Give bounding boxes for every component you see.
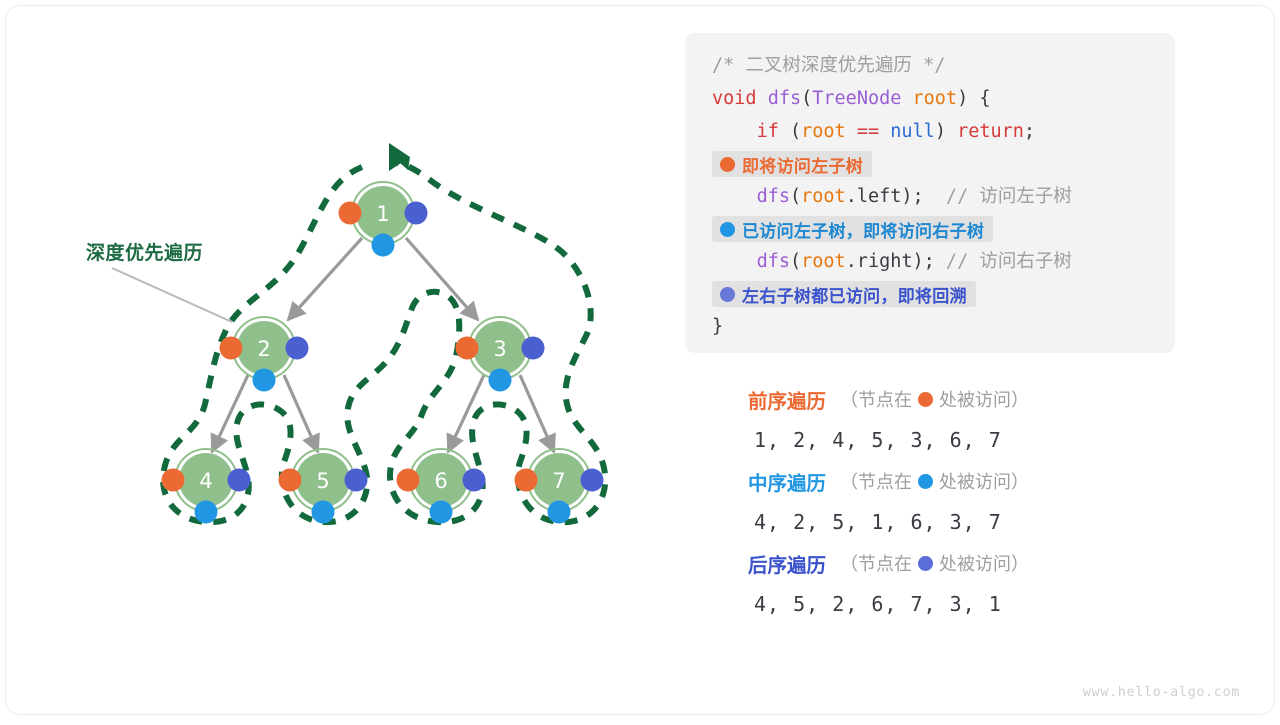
- code-token: dfs: [757, 186, 790, 207]
- code-token: ==: [857, 121, 879, 142]
- node-value: 6: [434, 469, 447, 493]
- edge-2-5: [284, 375, 318, 452]
- preorder-marker-dot: [339, 202, 362, 225]
- code-highlight-line: 已访问左子树，即将访问右子树: [685, 214, 1175, 244]
- marker-dot-icon: [720, 157, 735, 172]
- code-token: [879, 121, 890, 142]
- inorder-marker-dot: [372, 234, 395, 257]
- traversal-note-prefix: （节点在: [840, 468, 912, 494]
- code-token: [846, 121, 857, 142]
- code-token: dfs: [757, 251, 790, 272]
- code-lines: /* 二叉树深度优先遍历 */void dfs(TreeNode root) {…: [685, 49, 1175, 343]
- node-value: 3: [493, 337, 506, 361]
- traversal-note-suffix: 处被访问）: [939, 550, 1029, 576]
- code-token: root: [801, 251, 846, 272]
- highlight-chip: 即将访问左子树: [712, 151, 872, 177]
- traversal-name: 前序遍历: [748, 385, 826, 414]
- code-token: (: [790, 186, 801, 207]
- code-line: /* 二叉树深度优先遍历 */: [685, 49, 1175, 82]
- traversal-header: 前序遍历（节点在处被访问）: [748, 382, 1168, 416]
- code-token: dfs: [768, 88, 801, 109]
- marker-dot-icon: [720, 222, 735, 237]
- node-value: 5: [316, 469, 329, 493]
- inorder-marker-dot: [195, 501, 218, 524]
- code-line: void dfs(TreeNode root) {: [685, 82, 1175, 115]
- highlight-text: 即将访问左子树: [742, 152, 863, 177]
- code-token: }: [712, 316, 723, 337]
- highlight-chip: 已访问左子树，即将访问右子树: [712, 216, 993, 242]
- inorder-marker-dot: [489, 369, 512, 392]
- code-token: ) {: [957, 88, 990, 109]
- highlight-text: 左右子树都已访问，即将回溯: [742, 282, 967, 307]
- traversal-header: 中序遍历（节点在处被访问）: [748, 464, 1168, 498]
- code-token: [757, 88, 768, 109]
- code-token: (: [779, 121, 801, 142]
- preorder-marker-dot: [397, 469, 420, 492]
- traversal-note-prefix: （节点在: [840, 386, 912, 412]
- tree-node-2: 2: [220, 317, 309, 392]
- traversal-note-prefix: （节点在: [840, 550, 912, 576]
- node-value: 7: [552, 469, 565, 493]
- marker-dot-icon: [720, 287, 735, 302]
- postorder-marker-dot: [522, 337, 545, 360]
- dfs-annotation-label: 深度优先遍历: [86, 238, 203, 265]
- code-token: void: [712, 88, 757, 109]
- code-token: .right);: [846, 251, 935, 272]
- traversal-header: 后序遍历（节点在处被访问）: [748, 546, 1168, 580]
- inorder-marker-dot: [253, 369, 276, 392]
- code-token: [901, 88, 912, 109]
- code-line: }: [685, 310, 1175, 343]
- postorder-marker-dot: [286, 337, 309, 360]
- code-token: root: [801, 186, 846, 207]
- traversal-sequence: 1, 2, 4, 5, 3, 6, 7: [748, 416, 1168, 464]
- traversal-note: （节点在处被访问）: [840, 386, 1029, 412]
- preorder-marker-dot: [162, 469, 185, 492]
- code-line: dfs(root.left); // 访问左子树: [685, 180, 1175, 213]
- code-token: /* 二叉树深度优先遍历 */: [712, 55, 945, 76]
- code-highlight-line: 左右子树都已访问，即将回溯: [685, 279, 1175, 309]
- code-panel: /* 二叉树深度优先遍历 */void dfs(TreeNode root) {…: [685, 33, 1175, 353]
- code-token: // 访问左子树: [924, 186, 1072, 207]
- postorder-marker-dot: [345, 469, 368, 492]
- preorder-marker-dot: [456, 337, 479, 360]
- code-token: ;: [1024, 121, 1035, 142]
- traversal-note: （节点在处被访问）: [840, 550, 1029, 576]
- marker-dot-icon: [918, 474, 933, 489]
- tree-svg: 1234567: [0, 0, 680, 720]
- preorder-marker-dot: [279, 469, 302, 492]
- marker-dot-icon: [918, 392, 933, 407]
- code-token: (: [790, 251, 801, 272]
- inorder-marker-dot: [312, 501, 335, 524]
- code-token: null: [890, 121, 935, 142]
- code-token: root: [801, 121, 846, 142]
- node-value: 2: [257, 337, 270, 361]
- code-token: [712, 121, 757, 142]
- code-line: if (root == null) return;: [685, 115, 1175, 148]
- edge-1-3: [406, 238, 478, 320]
- code-token: if: [757, 121, 779, 142]
- highlight-text: 已访问左子树，即将访问右子树: [742, 217, 984, 242]
- traversal-name: 后序遍历: [748, 549, 826, 578]
- traversal-note-suffix: 处被访问）: [939, 386, 1029, 412]
- traversal-note: （节点在处被访问）: [840, 468, 1029, 494]
- preorder-marker-dot: [220, 337, 243, 360]
- code-token: [712, 251, 757, 272]
- watermark: www.hello-algo.com: [1083, 684, 1240, 700]
- postorder-marker-dot: [405, 202, 428, 225]
- inorder-marker-dot: [430, 501, 453, 524]
- code-token: root: [913, 88, 958, 109]
- traversal-sequence: 4, 5, 2, 6, 7, 3, 1: [748, 580, 1168, 628]
- inorder-marker-dot: [548, 501, 571, 524]
- preorder-marker-dot: [515, 469, 538, 492]
- code-token: return: [957, 121, 1024, 142]
- code-token: TreeNode: [812, 88, 901, 109]
- code-token: // 访问右子树: [935, 251, 1072, 272]
- marker-dot-icon: [918, 556, 933, 571]
- illustration-canvas: 1234567 深度优先遍历 /* 二叉树深度优先遍历 */void dfs(T…: [0, 0, 1280, 720]
- tree-node-3: 3: [456, 317, 545, 392]
- postorder-marker-dot: [581, 469, 604, 492]
- node-value: 1: [376, 202, 389, 226]
- code-highlight-line: 即将访问左子树: [685, 149, 1175, 179]
- postorder-marker-dot: [463, 469, 486, 492]
- annotation-leader-line: [112, 268, 232, 322]
- postorder-marker-dot: [228, 469, 251, 492]
- code-token: .left);: [846, 186, 924, 207]
- code-token: ): [935, 121, 957, 142]
- highlight-chip: 左右子树都已访问，即将回溯: [712, 281, 976, 307]
- traversal-note-suffix: 处被访问）: [939, 468, 1029, 494]
- code-token: [712, 186, 757, 207]
- traversal-results: 前序遍历（节点在处被访问）1, 2, 4, 5, 3, 6, 7中序遍历（节点在…: [748, 382, 1168, 628]
- code-token: (: [801, 88, 812, 109]
- code-line: dfs(root.right); // 访问右子树: [685, 245, 1175, 278]
- node-value: 4: [199, 469, 212, 493]
- traversal-name: 中序遍历: [748, 467, 826, 496]
- traversal-sequence: 4, 2, 5, 1, 6, 3, 7: [748, 498, 1168, 546]
- binary-tree-diagram: 1234567 深度优先遍历: [0, 0, 680, 720]
